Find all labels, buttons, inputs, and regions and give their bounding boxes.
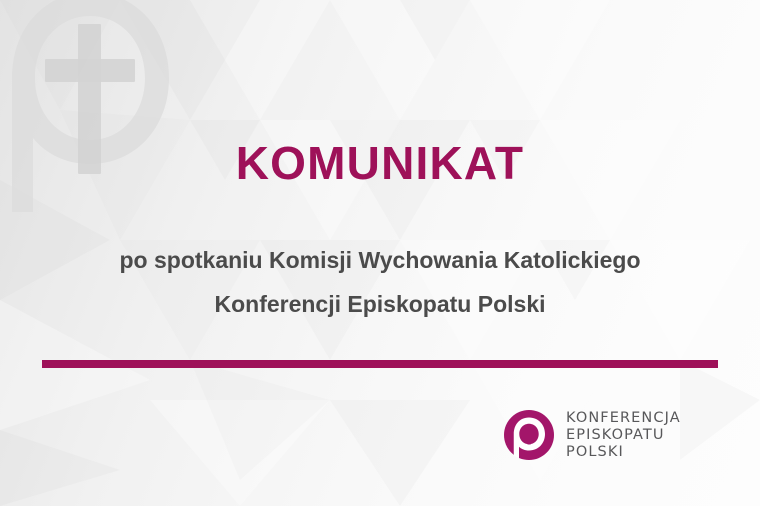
kep-logo: KONFERENCJA EPISKOPATU POLSKI bbox=[503, 404, 703, 466]
kep-logo-word-2: EPISKOPATU bbox=[566, 427, 681, 444]
kep-logo-word-1: KONFERENCJA bbox=[566, 410, 681, 427]
kep-logo-wordmark: KONFERENCJA EPISKOPATU POLSKI bbox=[566, 410, 681, 461]
divider-rule bbox=[42, 360, 718, 368]
kep-logo-mark-icon bbox=[503, 409, 555, 461]
subtitle: po spotkaniu Komisji Wychowania Katolick… bbox=[0, 238, 760, 326]
page-title: KOMUNIKAT bbox=[0, 140, 760, 186]
subtitle-line-2: Konferencji Episkopatu Polski bbox=[0, 282, 760, 326]
subtitle-line-1: po spotkaniu Komisji Wychowania Katolick… bbox=[0, 238, 760, 282]
kep-logo-word-3: POLSKI bbox=[566, 444, 681, 461]
komunikat-banner: KOMUNIKAT po spotkaniu Komisji Wychowani… bbox=[0, 0, 760, 506]
banner-content: KOMUNIKAT po spotkaniu Komisji Wychowani… bbox=[0, 0, 760, 506]
